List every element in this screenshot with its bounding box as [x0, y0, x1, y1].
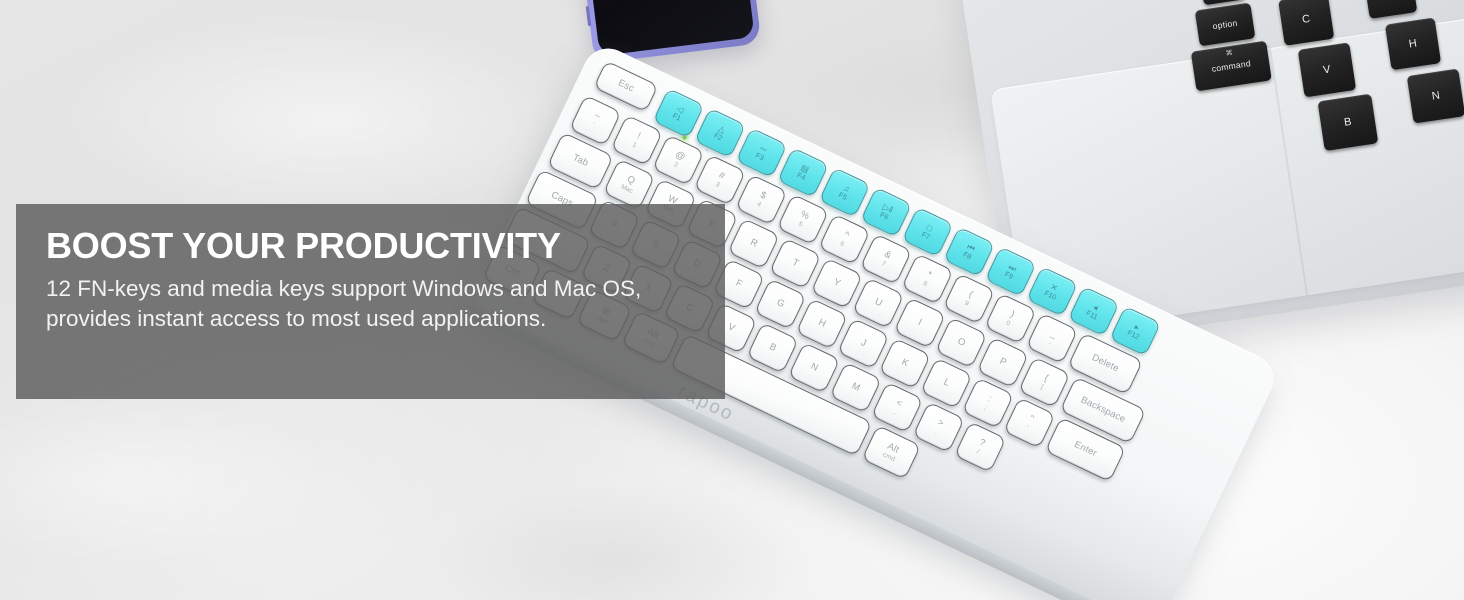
key-label: " — [1027, 414, 1034, 425]
key-label: F9 — [1003, 271, 1014, 281]
key-label: K — [900, 358, 910, 370]
indicator-dot — [705, 148, 709, 152]
promo-text-banner: BOOST YOUR PRODUCTIVITY 12 FN-keys and m… — [16, 204, 725, 399]
laptop-key-label: V — [1322, 63, 1331, 76]
key-sublabel: . — [934, 428, 939, 435]
key-label: Backspace — [1079, 395, 1127, 425]
laptop-key-h[interactable]: H — [1385, 17, 1441, 70]
key-f10[interactable]: ✕F10 — [1026, 266, 1078, 317]
key-sublabel: - — [1047, 339, 1052, 346]
key-label: F11 — [1085, 309, 1099, 321]
key-sublabel: 5 — [797, 220, 803, 228]
key-5[interactable]: %5 — [777, 194, 829, 246]
key-sublabel: 4 — [756, 201, 762, 209]
key-label: L — [942, 378, 951, 389]
key-f6[interactable]: ▷‖F6 — [860, 187, 912, 238]
key-label: F12 — [1126, 329, 1140, 341]
key-label: Tab — [571, 153, 590, 169]
key-sublabel: 8 — [922, 280, 928, 288]
key-label: T — [790, 258, 800, 270]
laptop-key-label: N — [1431, 90, 1441, 103]
key-label: : — [986, 395, 993, 405]
key-comma[interactable]: <, — [871, 382, 923, 434]
key-4[interactable]: $4 — [735, 174, 787, 226]
key-label: ! — [635, 132, 642, 142]
laptop-key-n[interactable]: N — [1407, 68, 1464, 123]
key-label: ( — [967, 290, 974, 300]
banner-body-text: 12 FN-keys and media keys support Window… — [46, 274, 646, 334]
command-symbol-icon: ⌘ — [1225, 49, 1233, 58]
laptop-key-label: command — [1211, 58, 1251, 74]
key-label: F4 — [796, 172, 807, 182]
key-3[interactable]: #3 — [694, 154, 746, 206]
key-label: F8 — [962, 251, 973, 261]
key-label: M — [850, 381, 861, 393]
key-f5[interactable]: ♫F5 — [819, 167, 871, 218]
key-label: F5 — [837, 191, 848, 201]
key-label: { — [1042, 374, 1049, 384]
laptop-key-v[interactable]: V — [1298, 42, 1357, 97]
key-1[interactable]: !1 — [611, 115, 663, 167]
key-label: F3 — [754, 152, 765, 162]
laptop-key-label: B — [1343, 116, 1352, 129]
key-label: N — [809, 362, 820, 374]
key-label: R — [748, 238, 759, 250]
key-period[interactable]: >. — [912, 401, 964, 453]
key-sublabel: 3 — [714, 181, 720, 189]
key-f9[interactable]: ⏭F9 — [985, 246, 1037, 297]
laptop-key-b[interactable]: B — [1318, 94, 1379, 151]
key-label: I — [916, 318, 923, 328]
laptop-key-c[interactable]: C — [1278, 0, 1334, 46]
key-label: ) — [1008, 310, 1015, 320]
key-sublabel: / — [976, 448, 981, 455]
key-sublabel: 6 — [839, 240, 845, 248]
key-f4[interactable]: ▤F4 — [777, 147, 829, 198]
key-sublabel: 9 — [963, 300, 969, 308]
key-label: V — [726, 322, 736, 334]
key-sublabel: 1 — [631, 141, 637, 149]
key-label: F7 — [920, 231, 931, 241]
key-sublabel: 2 — [673, 161, 679, 169]
laptop-key-label: option — [1212, 18, 1238, 32]
key-label: O — [956, 337, 967, 349]
key-label: F — [734, 278, 744, 290]
banner-headline: BOOST YOUR PRODUCTIVITY — [46, 228, 695, 265]
key-f7[interactable]: □F7 — [902, 207, 954, 258]
key-f11[interactable]: ◂F11 — [1068, 286, 1120, 337]
key-7[interactable]: &7 — [860, 233, 912, 285]
key-label: Y — [832, 277, 842, 289]
key-label: Delete — [1090, 353, 1120, 374]
key-label: J — [859, 338, 868, 349]
laptop-key-g[interactable]: G — [1363, 0, 1417, 19]
key-0[interactable]: )0 — [984, 293, 1036, 345]
key-sublabel: , — [893, 409, 898, 416]
key-label: F2 — [713, 132, 724, 142]
key-label: Enter — [1072, 440, 1098, 459]
key-alt-cmd-right[interactable]: Altcmd — [861, 425, 921, 480]
key-slash[interactable]: ?/ — [954, 421, 1006, 473]
key-sublabel: ` — [590, 122, 595, 129]
key-8[interactable]: *8 — [901, 253, 953, 305]
laptop-key-label: C — [1301, 13, 1311, 26]
key-sublabel: 0 — [1005, 319, 1011, 327]
key-f2[interactable]: △F2 — [694, 108, 746, 159]
key-sublabel: [ — [1040, 384, 1045, 391]
key-2[interactable]: @2 — [652, 134, 704, 186]
laptop-key-option[interactable]: option — [1195, 3, 1256, 47]
key-label: P — [998, 357, 1008, 369]
key-sublabel: 7 — [880, 260, 886, 268]
key-sublabel: ; — [983, 404, 988, 411]
key-label: * — [925, 270, 933, 281]
key-f3[interactable]: ⎓F3 — [736, 127, 788, 178]
key-label: F6 — [879, 211, 890, 221]
key-minus[interactable]: _- — [1026, 313, 1078, 365]
key-label: F1 — [671, 112, 682, 122]
key-label: G — [775, 298, 786, 310]
key-sublabel: ' — [1025, 424, 1029, 431]
key-label: Esc — [616, 78, 635, 94]
key-f1[interactable]: ◁F1 — [653, 88, 705, 139]
key-6[interactable]: ^6 — [818, 214, 870, 266]
key-label: H — [817, 318, 828, 330]
key-9[interactable]: (9 — [943, 273, 995, 325]
product-banner-scene: alt option ⌘command X C V B G H N Esc ◁F… — [0, 0, 1464, 600]
key-label: U — [873, 297, 884, 309]
key-f8[interactable]: ⏮F8 — [943, 226, 995, 277]
laptop-key-label: H — [1408, 37, 1418, 50]
key-label: B — [768, 342, 778, 354]
